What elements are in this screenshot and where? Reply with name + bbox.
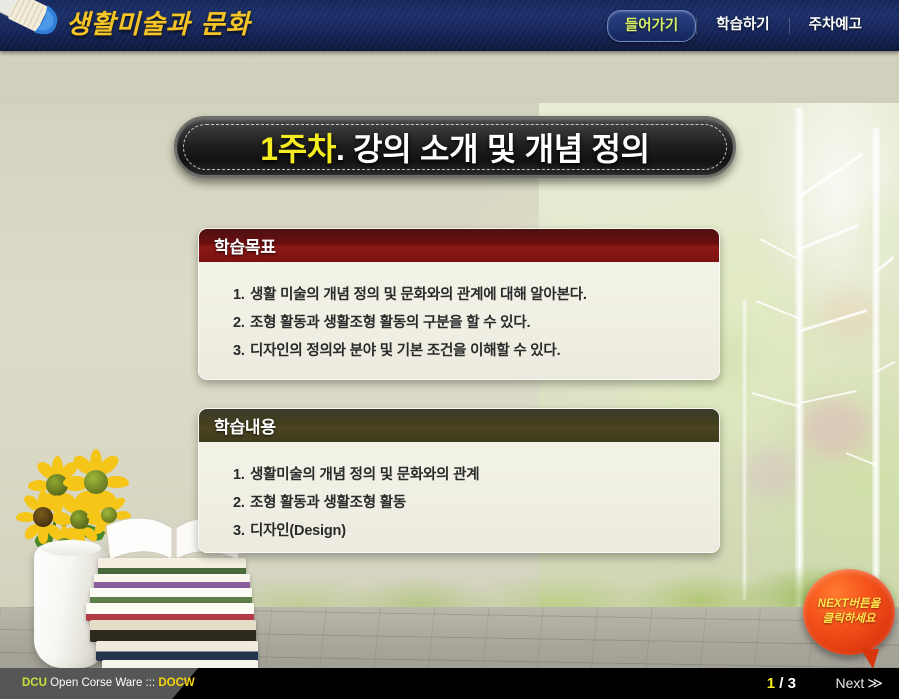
panel-header: 학습내용 [199,409,719,442]
page-current: 1 [767,675,775,692]
list-item-text: 생활미술의 개념 정의 및 문화와의 관계 [250,467,479,483]
contents-list: 1.생활미술의 개념 정의 및 문화와의 관계 2.조형 활동과 생활조형 활동… [199,442,719,553]
nav-item-preview[interactable]: 주차예고 [790,0,881,51]
list-item: 3.디자인의 정의와 분야 및 기본 조건을 이해할 수 있다. [233,339,719,363]
next-label: Next [836,675,865,691]
list-item-number: 3. [233,339,250,363]
site-header: 생활미술과 문화 들어가기 학습하기 주차예고 [0,0,899,51]
panel-header: 학습목표 [199,229,719,262]
goals-list: 1.생활 미술의 개념 정의 및 문화와의 관계에 대해 알아본다. 2.조형 … [199,262,719,380]
slide-title-pill: 1주차. 강의 소개 및 개념 정의 [174,116,736,178]
title-week: 1주차 [260,131,336,167]
book [96,641,258,661]
book [90,620,256,642]
list-item-number: 2. [233,491,250,515]
nav-item-study[interactable]: 학습하기 [697,0,788,51]
page-total: / 3 [775,675,796,692]
list-item-number: 3. [233,519,250,543]
list-item-text: 디자인(Design) [250,523,346,539]
list-item-text: 생활 미술의 개념 정의 및 문화와의 관계에 대해 알아본다. [250,287,587,303]
footer-brand-docw: DOCW [158,677,194,689]
footer-brand-dcu: DCU [22,677,47,689]
list-item-text: 디자인의 정의와 분야 및 기본 조건을 이해할 수 있다. [250,343,560,359]
page-title: 1주차. 강의 소개 및 개념 정의 [260,124,650,170]
footer-brand: DCU Open Corse Ware ::: DOCW [22,668,195,699]
panel-learning-goals: 학습목표 1.생활 미술의 개념 정의 및 문화와의 관계에 대해 알아본다. … [198,228,720,380]
header-underband [0,51,899,103]
book [86,603,254,621]
bubble-line-1: NEXT버튼을 [818,597,880,612]
next-hint-bubble[interactable]: NEXT버튼을 클릭하세요 [803,569,895,655]
next-button[interactable]: Next≫ [836,668,884,699]
main-nav: 들어가기 학습하기 주차예고 [607,0,881,51]
page-indicator: 1 / 3 [767,668,796,699]
book [94,574,250,589]
panel-heading-contents: 학습내용 [214,413,276,438]
nav-item-entry[interactable]: 들어가기 [607,10,696,42]
list-item-number: 1. [233,283,250,307]
slide-stage: 생활미술과 문화 들어가기 학습하기 주차예고 1주차. 강의 소개 및 개념 … [0,0,899,699]
panel-heading-goals: 학습목표 [214,233,276,258]
list-item: 1.생활미술의 개념 정의 및 문화와의 관계 [233,463,719,487]
list-item: 3.디자인(Design) [233,519,719,543]
list-item: 2.조형 활동과 생활조형 활동 [233,491,719,515]
list-item-text: 조형 활동과 생활조형 활동 [250,495,406,511]
list-item-number: 1. [233,463,250,487]
list-item: 2.조형 활동과 생활조형 활동의 구분을 할 수 있다. [233,311,719,335]
site-logo-text: 생활미술과 문화 [66,3,251,47]
footer-brand-middle: Open Corse Ware ::: [47,677,158,689]
panel-learning-contents: 학습내용 1.생활미술의 개념 정의 및 문화와의 관계 2.조형 활동과 생활… [198,408,720,553]
bubble-line-2: 클릭하세요 [823,612,876,627]
list-item-text: 조형 활동과 생활조형 활동의 구분을 할 수 있다. [250,315,530,331]
book [90,588,252,604]
list-item-number: 2. [233,311,250,335]
list-item: 1.생활 미술의 개념 정의 및 문화와의 관계에 대해 알아본다. [233,283,719,307]
book [98,558,246,575]
chevron-right-icon: ≫ [867,675,883,692]
bg-blob [800,400,870,458]
title-rest: . 강의 소개 및 개념 정의 [336,131,650,167]
site-footer: DCU Open Corse Ware ::: DOCW 1 / 3 Next≫ [0,668,899,699]
